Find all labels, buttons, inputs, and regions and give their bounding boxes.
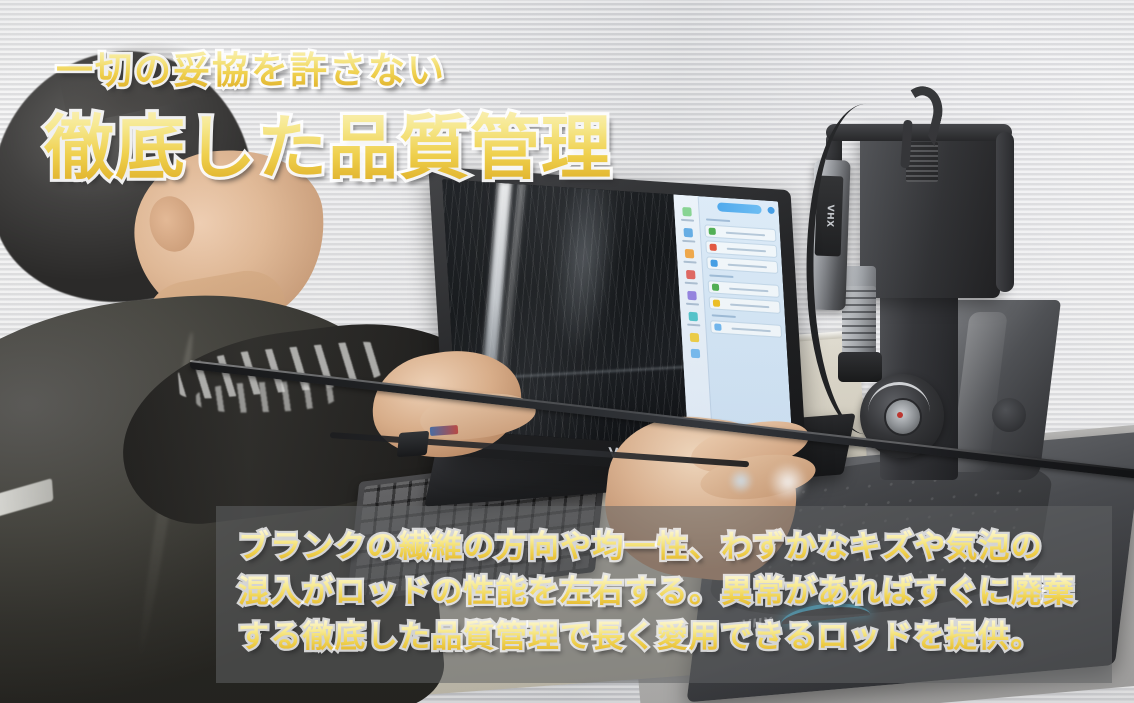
row-text [732,327,771,332]
rail-icon-label [683,261,696,264]
promo-banner: VHX VHX [0,0,1134,703]
list-item[interactable] [708,280,780,298]
software-panel[interactable] [674,194,793,452]
rail-icon-label [681,219,694,222]
dial-indicator-mark [897,412,903,418]
microscope-vent [906,142,938,182]
rail-icon[interactable] [686,270,696,280]
row-icon [712,284,719,291]
rail-icon-label [682,240,695,243]
row-text [730,303,769,308]
panel-primary-button[interactable] [717,202,762,214]
caption-line: する徹底した品質管理で長く愛用できるロッドを提供。 する徹底した品質管理で長く愛… [238,617,1092,658]
rail-icon[interactable] [690,333,700,343]
caption-line: ブランクの繊維の方向や均一性、わずかなキズや気泡の ブランクの繊維の方向や均一性… [238,527,1092,568]
row-icon [711,260,718,267]
caption-line-text: する徹底した品質管理で長く愛用できるロッドを提供。 [238,619,1042,655]
focus-dial[interactable] [884,398,922,436]
panel-status-dot [767,207,774,214]
list-item[interactable] [705,224,777,242]
rail-icon-label [687,324,700,327]
row-icon [715,323,722,330]
rail-icon[interactable] [688,312,698,322]
microscope-objective-lens [838,352,882,382]
row-text [728,263,767,268]
stage-light-glow [768,462,808,502]
row-icon [710,244,717,251]
microscope-barrel-rings [842,286,876,348]
camera-brand-label: VHX [824,204,835,227]
row-icon [713,299,720,306]
rail-icon-label [685,282,698,285]
list-item[interactable] [706,240,778,258]
panel-section-label [710,274,734,278]
caption-box: ブランクの繊維の方向や均一性、わずかなキズや気泡の ブランクの繊維の方向や均一性… [216,506,1112,683]
list-item[interactable] [709,296,781,314]
caption-line-text: 混入がロッドの性能を左右する。異常があればすぐに廃棄 [238,574,1075,610]
rail-icon-label [686,303,699,306]
row-icon [709,228,716,235]
row-text [729,287,768,292]
caption-line-text: ブランクの繊維の方向や均一性、わずかなキズや気泡の [238,529,1043,565]
panel-section-label [706,218,730,222]
rod-holder-clip [397,431,429,457]
rail-icon[interactable] [685,249,695,259]
rail-icon[interactable] [687,291,697,301]
secondary-knob[interactable] [992,398,1026,432]
list-item[interactable] [710,320,782,338]
panel-content[interactable] [699,196,793,453]
rail-icon[interactable] [691,349,701,359]
stage-light-glow-2 [728,468,754,494]
rail-icon[interactable] [683,228,693,238]
caption-line: 混入がロッドの性能を左右する。異常があればすぐに廃棄 混入がロッドの性能を左右す… [238,572,1092,613]
camera-label-plate: VHX [815,176,844,257]
rail-icon[interactable] [682,207,692,217]
rod-marker [430,425,459,436]
row-text [726,231,765,236]
panel-section-label [712,314,736,318]
microscope-handle-right[interactable] [996,132,1014,292]
list-item[interactable] [707,256,779,274]
row-text [727,247,766,252]
